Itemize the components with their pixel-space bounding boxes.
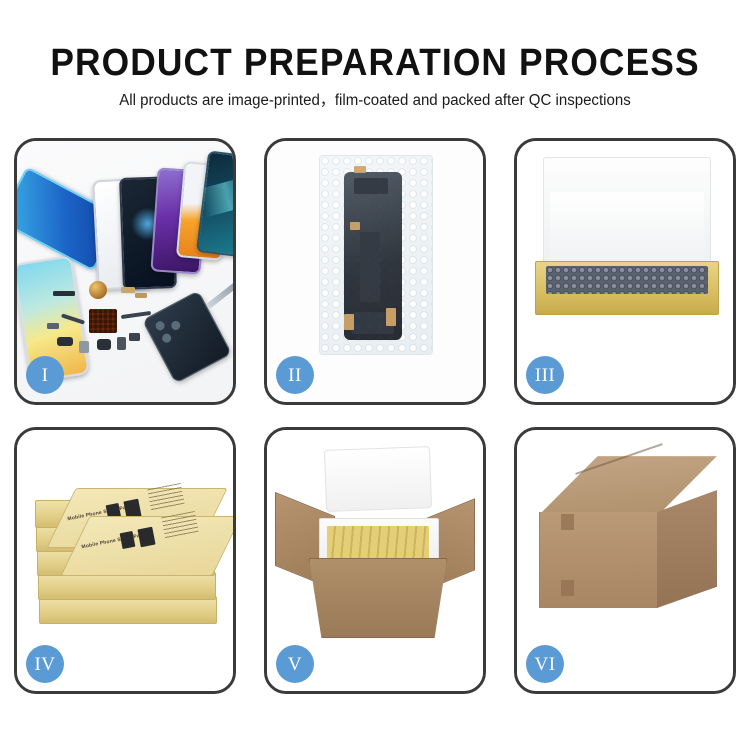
process-panel-grid: I II [14,138,736,694]
infographic-page: PRODUCT PREPARATION PROCESS All products… [0,0,750,750]
box-stack: Mobile Phone Spare Parts Mobile Phone Sp… [33,454,225,622]
connector-part [135,293,147,298]
tape-mark [350,222,360,230]
brown-carton-body [309,558,447,638]
chip-part [53,291,75,296]
page-subtitle: All products are image-printed，film-coat… [11,90,739,112]
screwdriver-icon [206,279,233,310]
white-box-lid [543,157,711,271]
box-label-image [120,531,136,549]
tape-mark [344,314,354,330]
bubble-wrapped-contents [546,266,708,294]
circuit-board-part [89,309,117,333]
stacked-box [38,572,216,600]
process-panel-2[interactable]: II [264,138,486,405]
panel-badge-2: II [276,356,314,394]
camera-module-part [57,337,73,346]
carton-side-face [657,490,717,608]
small-module-part [117,337,126,350]
carton-tape [561,514,574,530]
bubble-wrap-bag [319,155,433,355]
panel-badge-6: VI [526,645,564,683]
process-panel-5[interactable]: V [264,427,486,694]
panel-badge-4: IV [26,645,64,683]
panel-badge-1: I [26,356,64,394]
small-module-part [47,323,59,329]
tape-mark [386,308,396,326]
process-panel-3[interactable]: III [514,138,736,405]
box-label-image [137,527,155,548]
phone-back-housing [142,290,232,384]
process-panel-4[interactable]: Mobile Phone Spare Parts Mobile Phone Sp… [14,427,236,694]
small-module-part [97,339,111,350]
process-panel-1[interactable]: I [14,138,236,405]
panel-badge-5: V [276,645,314,683]
carton-front-face [539,512,658,608]
stacked-box [39,596,217,624]
tape-mark [354,166,366,173]
copper-coil-part [89,281,107,299]
process-panel-6[interactable]: VI [514,427,736,694]
panel-badge-3: III [526,356,564,394]
foam-box-lid [324,446,432,512]
carton-tape [561,580,574,596]
page-title: PRODUCT PREPARATION PROCESS [26,40,724,86]
connector-part [121,287,135,293]
yellow-kraft-tray [535,261,719,315]
speaker-part [79,341,89,353]
small-module-part [129,333,140,341]
